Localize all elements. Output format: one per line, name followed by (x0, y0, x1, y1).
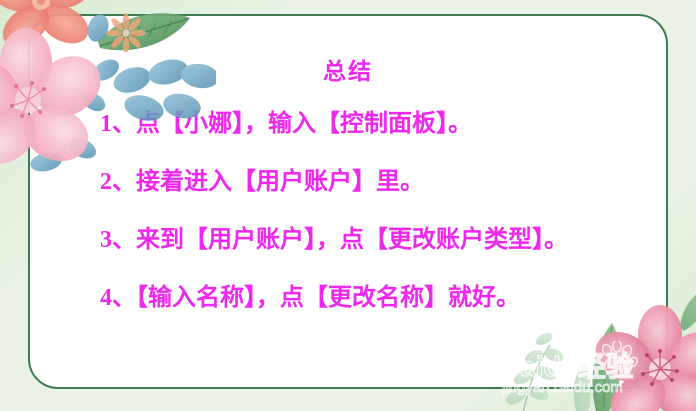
list-item: 4、【输入名称】，点【更改名称】就好。 (100, 286, 660, 310)
page-title: 总结 (28, 60, 668, 83)
steps-list: 1、点【小娜】，输入【控制面板】。 2、接着进入【用户账户】里。 3、来到【用户… (100, 112, 660, 310)
list-item: 2、接着进入【用户账户】里。 (100, 170, 660, 194)
slide-canvas: 总结 1、点【小娜】，输入【控制面板】。 2、接着进入【用户账户】里。 3、来到… (0, 0, 696, 411)
list-item: 1、点【小娜】，输入【控制面板】。 (100, 112, 660, 136)
content-area: 总结 1、点【小娜】，输入【控制面板】。 2、接着进入【用户账户】里。 3、来到… (28, 14, 668, 389)
list-item: 3、来到【用户账户】，点【更改账户类型】。 (100, 228, 660, 252)
